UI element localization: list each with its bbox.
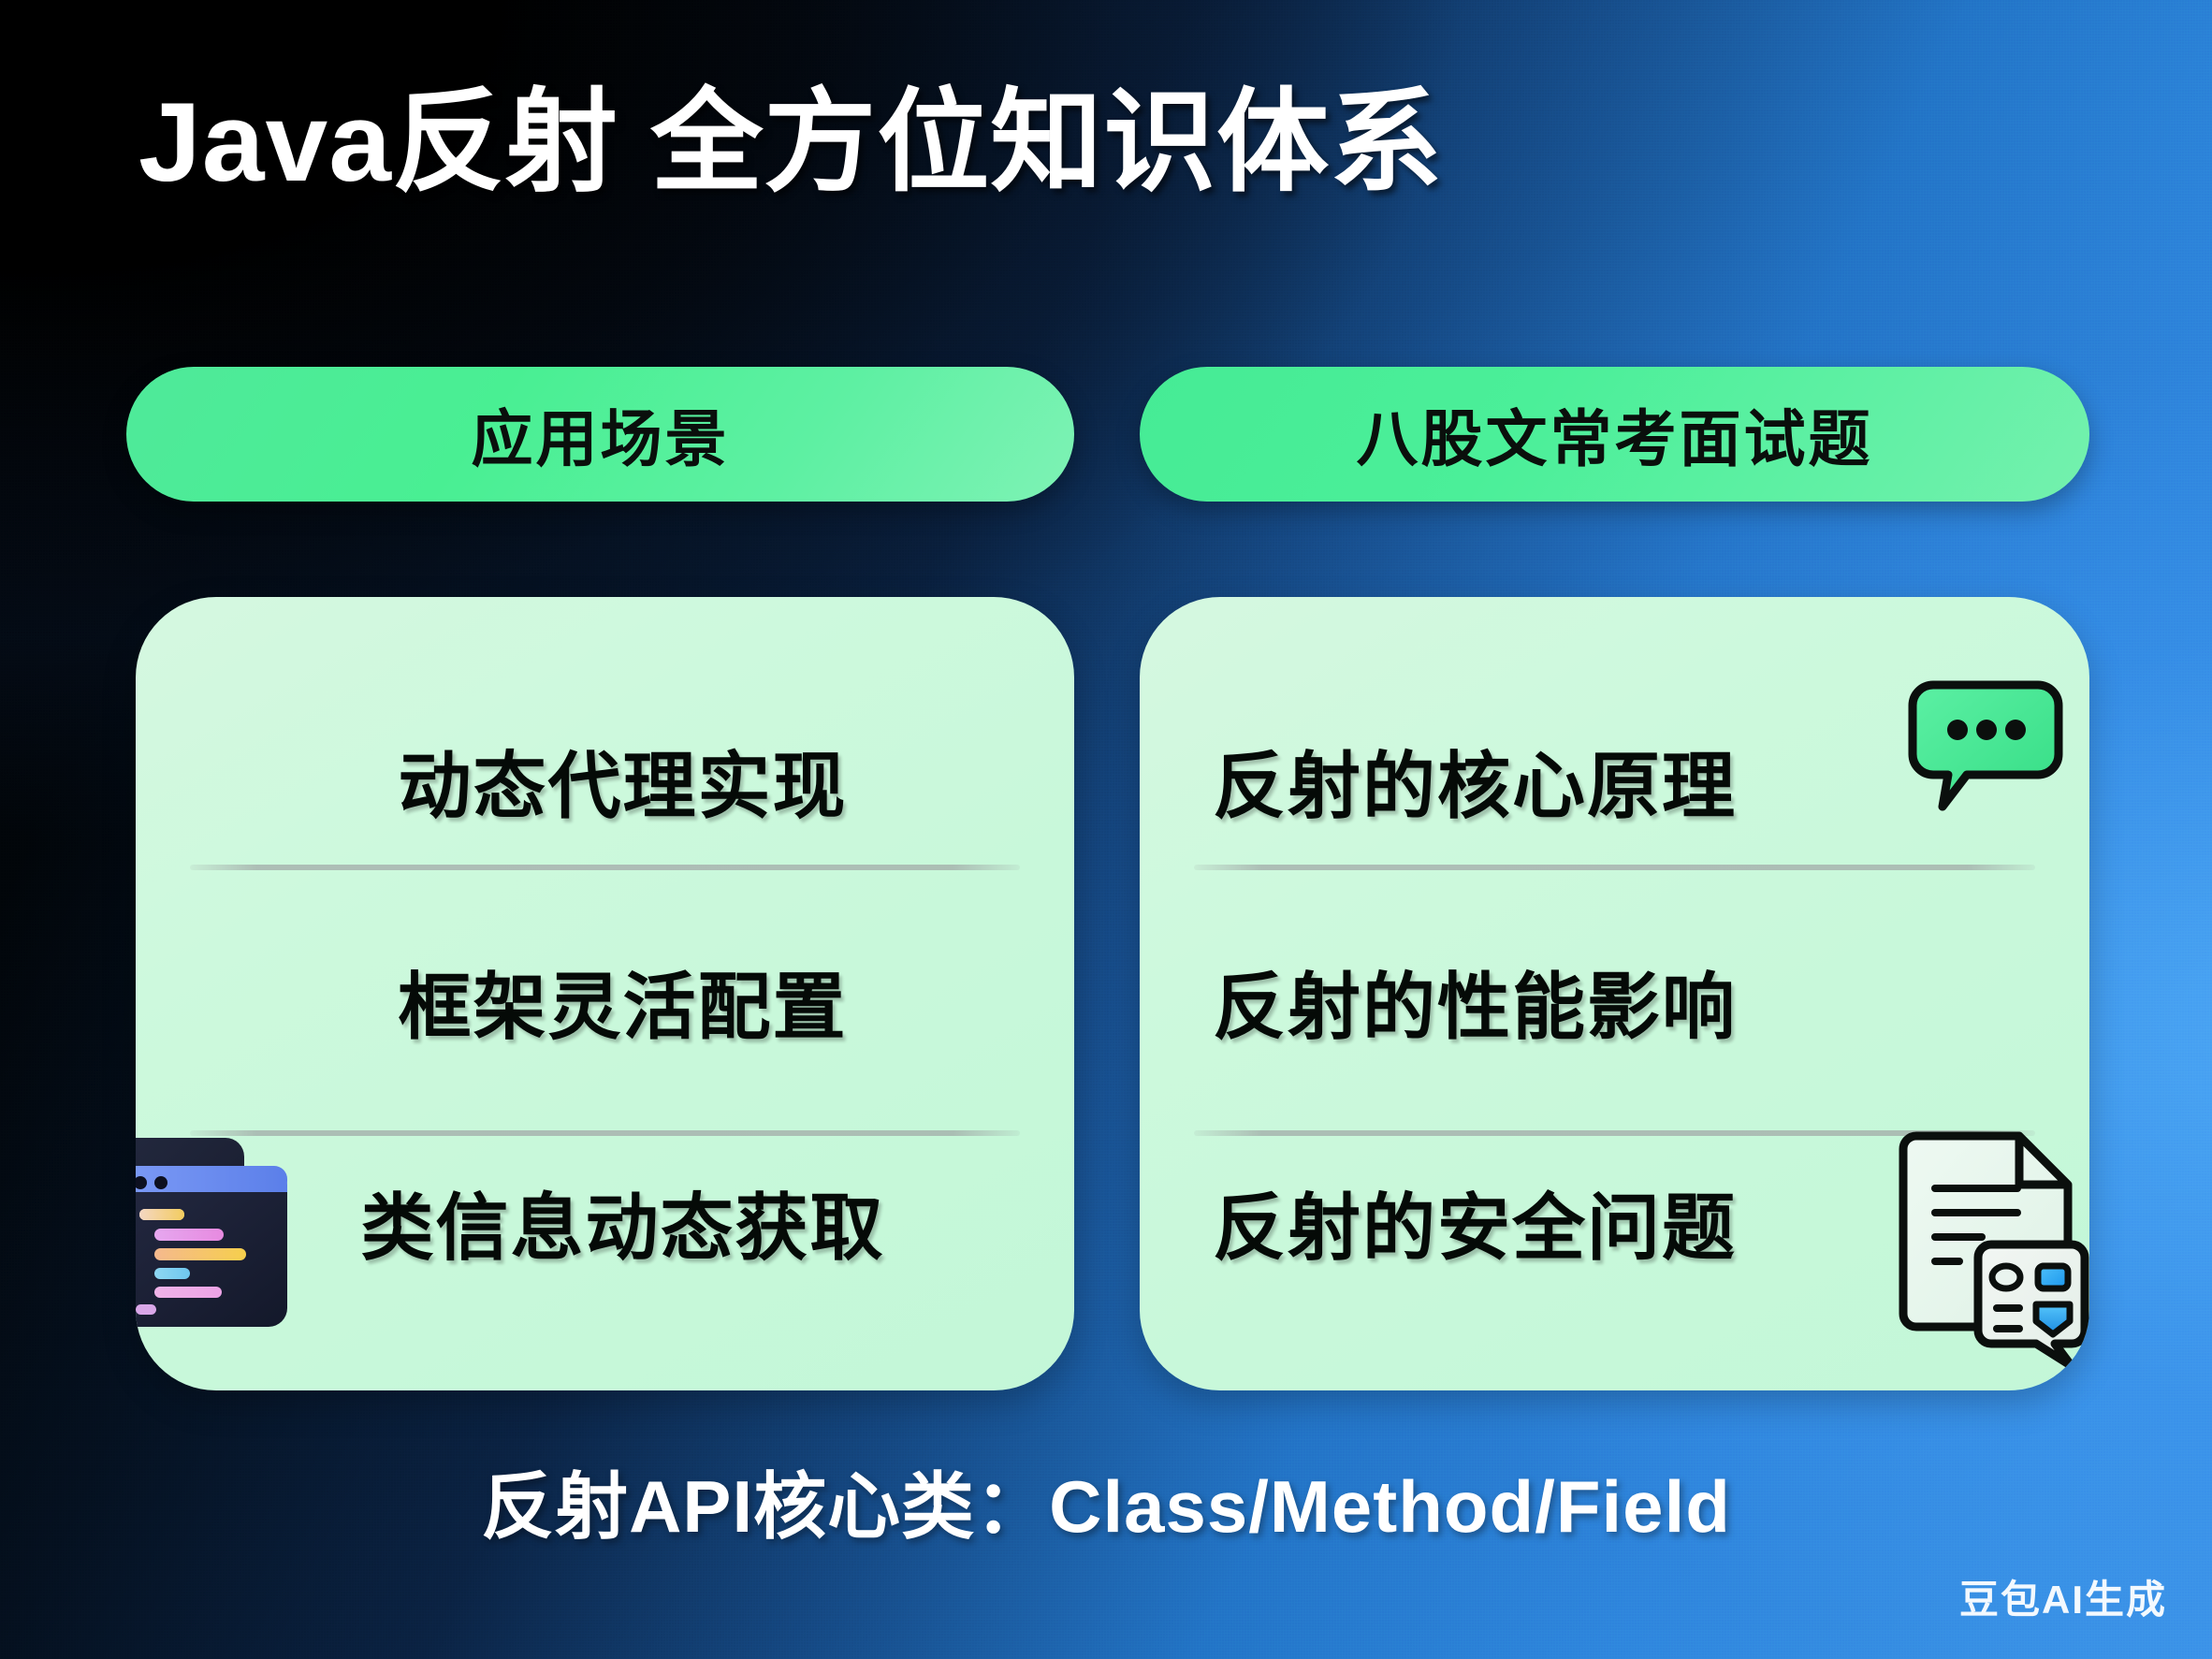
card-interview-questions: 反射的核心原理 反射的性能影响 反射的安全问题 <box>1140 597 2089 1390</box>
list-item-label: 反射的安全问题 <box>1213 1170 1737 1274</box>
list-item[interactable]: 框架灵活配置 <box>136 891 1074 1112</box>
pill-label: 八股文常考面试题 <box>1357 389 1873 479</box>
list-item-label: 反射的核心原理 <box>1213 728 1737 833</box>
list-item-label: 反射的性能影响 <box>1213 949 1737 1054</box>
section-pill-interview-questions[interactable]: 八股文常考面试题 <box>1140 367 2089 502</box>
page-title: Java反射 全方位知识体系 <box>138 82 2066 204</box>
list-item[interactable]: 动态代理实现 <box>136 670 1074 891</box>
code-window-icon <box>136 1121 295 1336</box>
list-item[interactable]: 反射的性能影响 <box>1140 891 2089 1112</box>
list-item-label: 框架灵活配置 <box>362 949 847 1054</box>
card-application-scenarios: 动态代理实现 框架灵活配置 类信息动态获取 <box>136 597 1074 1390</box>
list-item-label: 动态代理实现 <box>362 728 847 833</box>
section-pill-application-scenarios[interactable]: 应用场景 <box>126 367 1074 502</box>
watermark-label: 豆包AI生成 <box>1959 1568 2167 1625</box>
poster-canvas: Java反射 全方位知识体系 应用场景 八股文常考面试题 <box>0 0 2212 1659</box>
footer-caption: 反射API核心类：Class/Method/Field <box>0 1448 2212 1553</box>
chat-bubble-icon <box>1905 676 2066 816</box>
pill-label: 应用场景 <box>472 389 730 479</box>
list-item-label: 类信息动态获取 <box>325 1170 884 1274</box>
document-checklist-icon <box>1888 1130 2089 1372</box>
